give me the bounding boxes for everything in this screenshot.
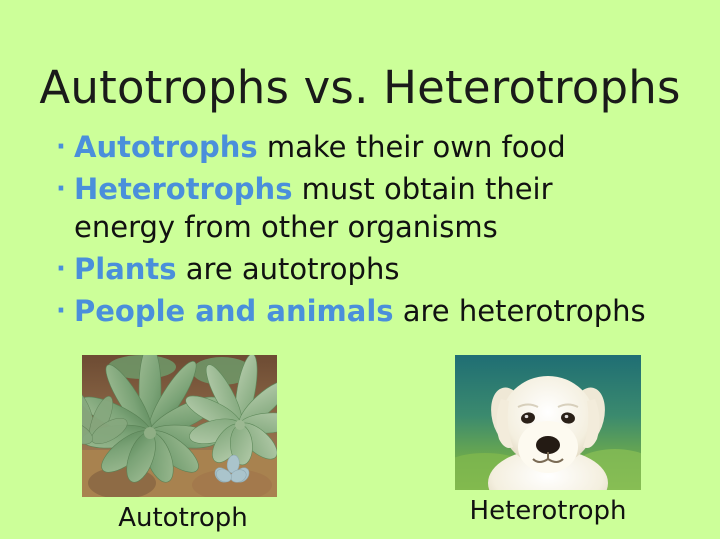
page-title: Autotrophs vs. Heterotrophs [0,62,720,114]
bullet-rest: are autotrophs [177,252,400,286]
list-item: · Heterotrophs must obtain theirenergy f… [56,170,696,246]
puppy-photo-illustration [455,355,641,490]
bullet-second-line: energy from other organisms [74,208,696,246]
plant-photo [82,355,277,497]
bullet-text: Plants are autotrophs [74,250,696,288]
slide: Autotrophs vs. Heterotrophs · Autotrophs… [0,0,720,539]
bullet-rest: are heterotrophs [394,294,646,328]
bullet-dot-icon: · [56,250,74,288]
list-item: · Autotrophs make their own food [56,128,696,166]
bullet-keyword: Autotrophs [74,130,258,164]
bullet-dot-icon: · [56,128,74,166]
caption-heterotroph: Heterotroph [448,496,648,526]
bullet-keyword: Heterotrophs [74,172,292,206]
caption-autotroph: Autotroph [83,503,283,533]
bullet-text: Autotrophs make their own food [74,128,696,166]
list-item: · Plants are autotrophs [56,250,696,288]
bullet-dot-icon: · [56,170,74,208]
bullet-dot-icon: · [56,292,74,330]
list-item: · People and animals are heterotrophs [56,292,696,330]
bullet-list: · Autotrophs make their own food · Heter… [56,128,696,334]
plant-photo-illustration [82,355,277,497]
bullet-rest: make their own food [258,130,566,164]
bullet-rest: must obtain their [292,172,552,206]
bullet-text: Heterotrophs must obtain theirenergy fro… [74,170,696,246]
puppy-photo [455,355,641,490]
bullet-keyword: People and animals [74,294,394,328]
bullet-text: People and animals are heterotrophs [74,292,696,330]
bullet-keyword: Plants [74,252,177,286]
